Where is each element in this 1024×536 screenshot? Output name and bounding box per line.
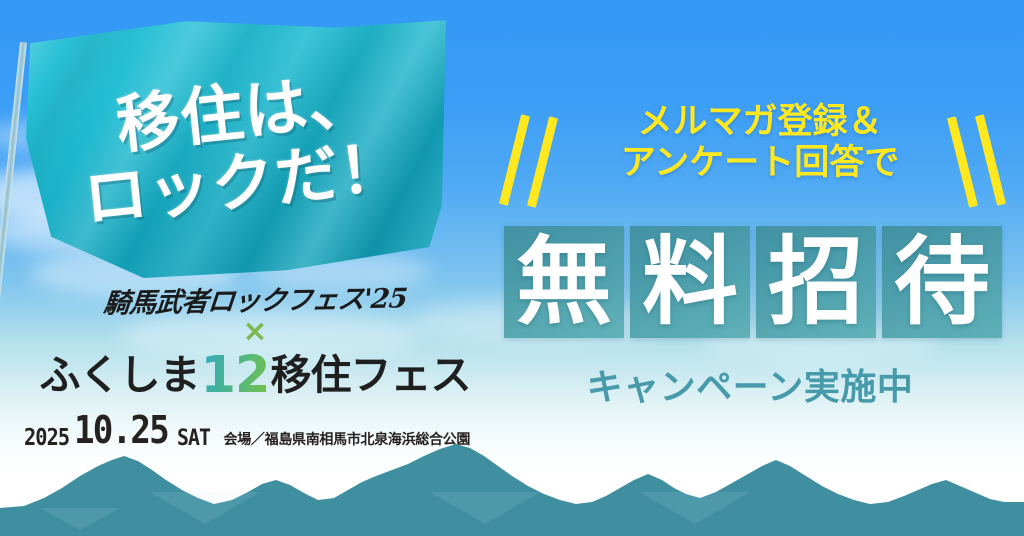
mountain-shape-icon: [0, 436, 1024, 536]
waving-flag: 移住は、 ロックだ！: [14, 14, 454, 304]
mountain-silhouette: [0, 436, 1024, 536]
slash-bar-icon: [499, 114, 530, 205]
promo-banner: 移住は、 ロックだ！ 騎馬武者ロックフェス'25 × ふくしま12移住フェス 2…: [0, 0, 1024, 536]
free-invite-char: 待: [894, 234, 990, 330]
free-invite-char: 招: [768, 234, 864, 330]
flag-cloth: 移住は、 ロックだ！: [26, 20, 446, 278]
ijufes-suffix: 移住フェス: [270, 351, 470, 399]
free-invite-box: 料: [630, 226, 750, 338]
ijufes-logo-text: ふくしま12移住フェス: [20, 349, 490, 403]
flag-pole: [0, 42, 27, 309]
free-invite-box: 招: [756, 226, 876, 338]
collab-cross-icon: ×: [20, 317, 490, 347]
free-invite-char: 無: [516, 234, 612, 330]
ijufes-prefix: ふくしま: [40, 351, 200, 399]
campaign-headline: メルマガ登録＆ アンケート回答で: [560, 102, 960, 185]
rockfes-logo-text: 騎馬武者ロックフェス'25: [18, 284, 491, 319]
free-invite-char: 料: [642, 234, 738, 330]
free-invite-box: 無: [504, 226, 624, 338]
campaign-panel: メルマガ登録＆ アンケート回答で 無 料 招 待 キャンペーン実施中: [500, 96, 1020, 436]
slash-bar-icon: [527, 116, 558, 207]
slash-decoration-left: [502, 110, 562, 206]
campaign-headline-line1: メルマガ登録＆: [560, 102, 960, 143]
campaign-headline-line2: アンケート回答で: [560, 143, 960, 184]
flag-slogan: 移住は、 ロックだ！: [14, 0, 459, 299]
campaign-subline: キャンペーン実施中: [500, 358, 1000, 410]
festival-logo-block: 騎馬武者ロックフェス'25 × ふくしま12移住フェス 2025 10.25 S…: [20, 288, 490, 452]
free-invite-boxes: 無 料 招 待: [504, 226, 1002, 338]
ijufes-number: 12: [200, 346, 271, 405]
free-invite-box: 待: [882, 226, 1002, 338]
slash-bar-icon: [975, 114, 1006, 205]
